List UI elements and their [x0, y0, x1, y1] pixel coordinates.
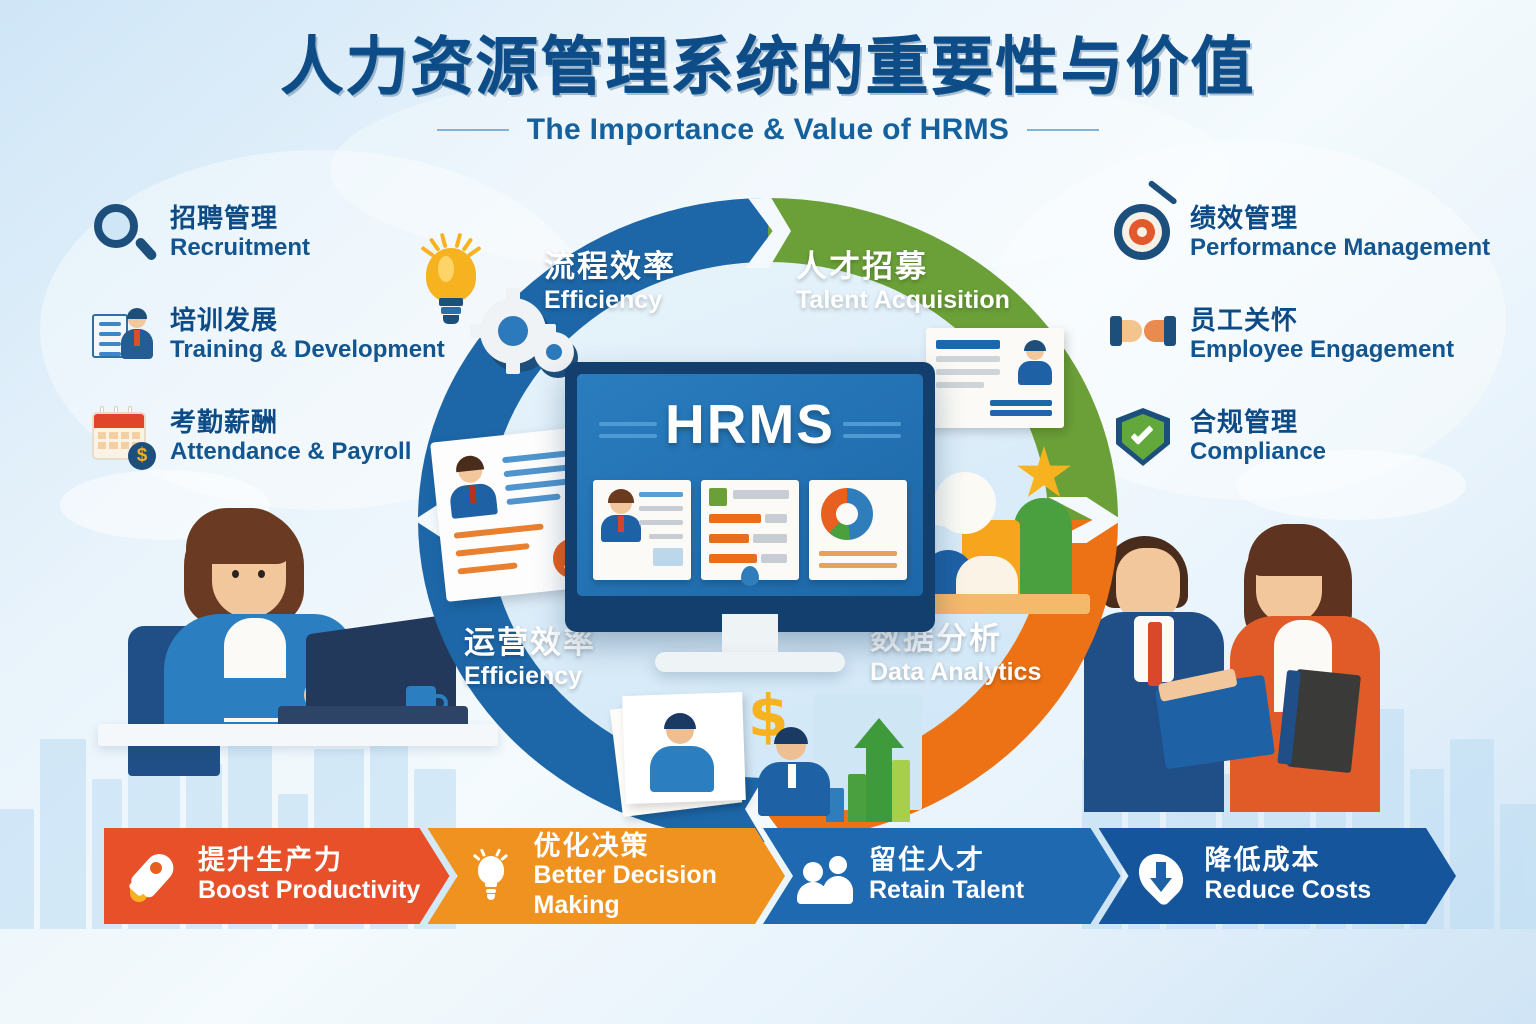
card-employee-profile[interactable] — [593, 480, 691, 580]
benefit-ribbon-row: 提升生产力 Boost Productivity 优化决策 Better Dec… — [104, 828, 1434, 924]
quadrant-label-cn: 人才招募 — [796, 250, 1010, 284]
feature-label-cn: 培训发展 — [170, 307, 445, 336]
infographic-canvas: 人力资源管理系统的重要性与价值 The Importance & Value o… — [0, 0, 1536, 1024]
feature-label-cn: 绩效管理 — [1190, 205, 1490, 234]
feature-label-en: Compliance — [1190, 438, 1326, 466]
subtitle-row: The Importance & Value of HRMS — [0, 113, 1536, 147]
ribbon-boost-productivity[interactable]: 提升生产力 Boost Productivity — [104, 828, 450, 924]
right-feature-list: 绩效管理 Performance Management 员工关怀 Employe… — [1112, 182, 1512, 488]
ribbon-label-en: Retain Talent — [869, 876, 1024, 906]
star-icon — [1016, 446, 1072, 502]
calendar-payroll-icon: $ — [92, 406, 154, 468]
illustration-woman-at-laptop — [128, 508, 468, 808]
feature-label-en: Performance Management — [1190, 234, 1490, 262]
feature-label-en: Attendance & Payroll — [170, 438, 411, 466]
page-header: 人力资源管理系统的重要性与价值 The Importance & Value o… — [0, 32, 1536, 147]
search-icon — [92, 202, 154, 264]
ribbon-retain-talent[interactable]: 留住人才 Retain Talent — [763, 828, 1121, 924]
quadrant-label-bottom-left: 运营效率 Efficiency — [464, 626, 596, 691]
feature-training-development[interactable]: 培训发展 Training & Development — [92, 284, 492, 386]
page-title: 人力资源管理系统的重要性与价值 — [0, 32, 1536, 103]
ribbon-label-cn: 留住人才 — [869, 846, 1024, 876]
subtitle-rule-left — [437, 129, 509, 131]
rocket-icon — [126, 848, 182, 904]
feature-label-cn: 招聘管理 — [170, 205, 310, 234]
quadrant-label-en: Efficiency — [464, 661, 596, 691]
quadrant-label-en: Talent Acquisition — [796, 285, 1010, 315]
ribbon-label-en: Better Decision Making — [534, 861, 786, 920]
handshake-icon — [1112, 304, 1174, 366]
feature-label-cn: 合规管理 — [1190, 409, 1326, 438]
shield-check-icon — [1112, 406, 1174, 468]
feature-label-en: Employee Engagement — [1190, 336, 1454, 364]
feature-label-cn: 考勤薪酬 — [170, 409, 411, 438]
ribbon-label-en: Reduce Costs — [1205, 876, 1372, 906]
ribbon-label-cn: 降低成本 — [1205, 846, 1372, 876]
illustration-two-colleagues — [1078, 512, 1418, 812]
target-icon — [1112, 202, 1174, 264]
lightbulb-icon — [462, 848, 518, 904]
feature-label-cn: 员工关怀 — [1190, 307, 1454, 336]
hrms-logo-text: HRMS — [577, 392, 923, 456]
donut-chart — [821, 488, 873, 540]
monitor-stand-base — [655, 652, 845, 672]
monitor-stand-neck — [722, 614, 778, 656]
feature-employee-engagement[interactable]: 员工关怀 Employee Engagement — [1112, 284, 1512, 386]
ribbon-label-en: Boost Productivity — [198, 876, 420, 906]
brand-logo-icon — [741, 566, 759, 586]
people-icon — [797, 848, 853, 904]
ribbon-better-decision-making[interactable]: 优化决策 Better Decision Making — [428, 828, 786, 924]
training-document-icon — [92, 304, 154, 366]
team-recognition-art — [910, 446, 1090, 626]
page-subtitle: The Importance & Value of HRMS — [527, 113, 1009, 147]
ribbon-label-cn: 优化决策 — [534, 832, 786, 862]
data-analytics-art: $ — [616, 678, 926, 838]
ribbon-label-cn: 提升生产力 — [198, 846, 420, 876]
quadrant-label-cn: 流程效率 — [544, 250, 676, 284]
left-feature-list: 招聘管理 Recruitment 培训发展 Training & Develop… — [92, 182, 492, 488]
hrms-monitor: HRMS — [565, 362, 935, 632]
feature-recruitment[interactable]: 招聘管理 Recruitment — [92, 182, 492, 284]
down-arrow-icon — [1133, 848, 1189, 904]
subtitle-rule-right — [1027, 129, 1099, 131]
ribbon-reduce-costs[interactable]: 降低成本 Reduce Costs — [1099, 828, 1457, 924]
monitor-screen[interactable]: HRMS — [577, 374, 923, 596]
employee-profile-card — [926, 328, 1064, 428]
feature-performance-management[interactable]: 绩效管理 Performance Management — [1112, 182, 1512, 284]
feature-attendance-payroll[interactable]: $ 考勤薪酬 Attendance & Payroll — [92, 386, 492, 488]
card-task-list[interactable] — [701, 480, 799, 580]
card-pie-chart[interactable] — [809, 480, 907, 580]
quadrant-label-top-right: 人才招募 Talent Acquisition — [796, 250, 1010, 315]
feature-label-en: Recruitment — [170, 234, 310, 262]
dashboard-cards — [593, 480, 907, 580]
feature-label-en: Training & Development — [170, 336, 445, 364]
feature-compliance[interactable]: 合规管理 Compliance — [1112, 386, 1512, 488]
